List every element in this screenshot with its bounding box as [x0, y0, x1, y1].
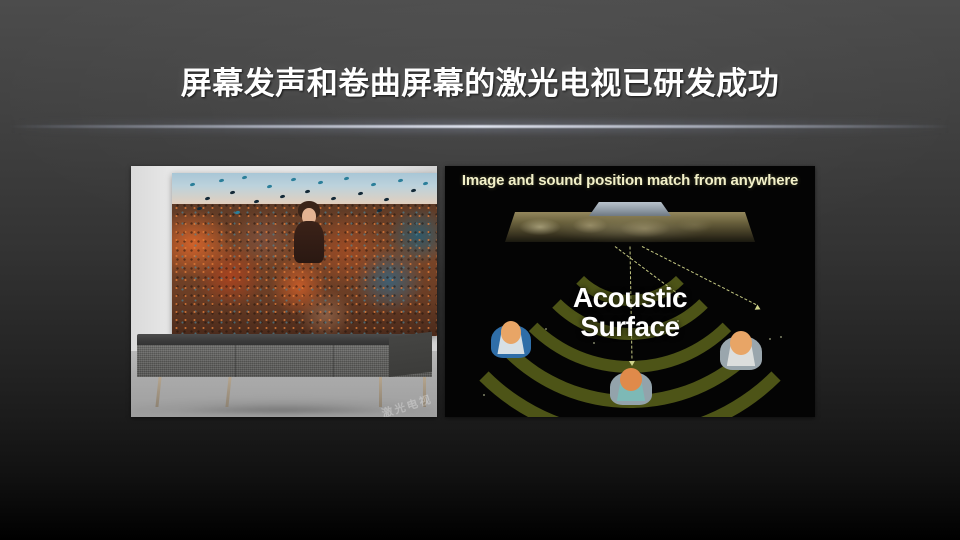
laser-tv-living-room-photo[interactable]: 激光电视: [131, 166, 437, 417]
title-divider: [8, 125, 952, 128]
presentation-slide: 屏幕发声和卷曲屏幕的激光电视已研发成功: [0, 0, 960, 540]
acoustic-surface-diagram[interactable]: Image and sound position match from anyw…: [445, 166, 815, 417]
viewer-left: [491, 314, 531, 358]
title-block: 屏幕发声和卷曲屏幕的激光电视已研发成功: [0, 66, 960, 102]
media-console-side: [389, 332, 432, 377]
diagram-television: [505, 202, 755, 246]
tv-screen: [172, 173, 437, 336]
viewer-center: [610, 361, 652, 405]
tv-screen-glow: [535, 216, 725, 242]
viewer-head: [501, 321, 522, 344]
console-speaker-mesh: [137, 345, 432, 377]
media-console-top: [137, 334, 432, 345]
console-leg: [379, 377, 382, 407]
viewer-right: [720, 324, 762, 370]
page-title: 屏幕发声和卷曲屏幕的激光电视已研发成功: [181, 66, 780, 102]
diagram-heading-line-1: Acoustic: [445, 284, 815, 313]
screen-person: [292, 201, 328, 263]
viewer-head: [620, 368, 642, 391]
person-body: [294, 221, 324, 263]
media-console-body: [137, 345, 432, 377]
viewer-head: [730, 331, 752, 355]
tv-top-bezel: [589, 202, 671, 216]
